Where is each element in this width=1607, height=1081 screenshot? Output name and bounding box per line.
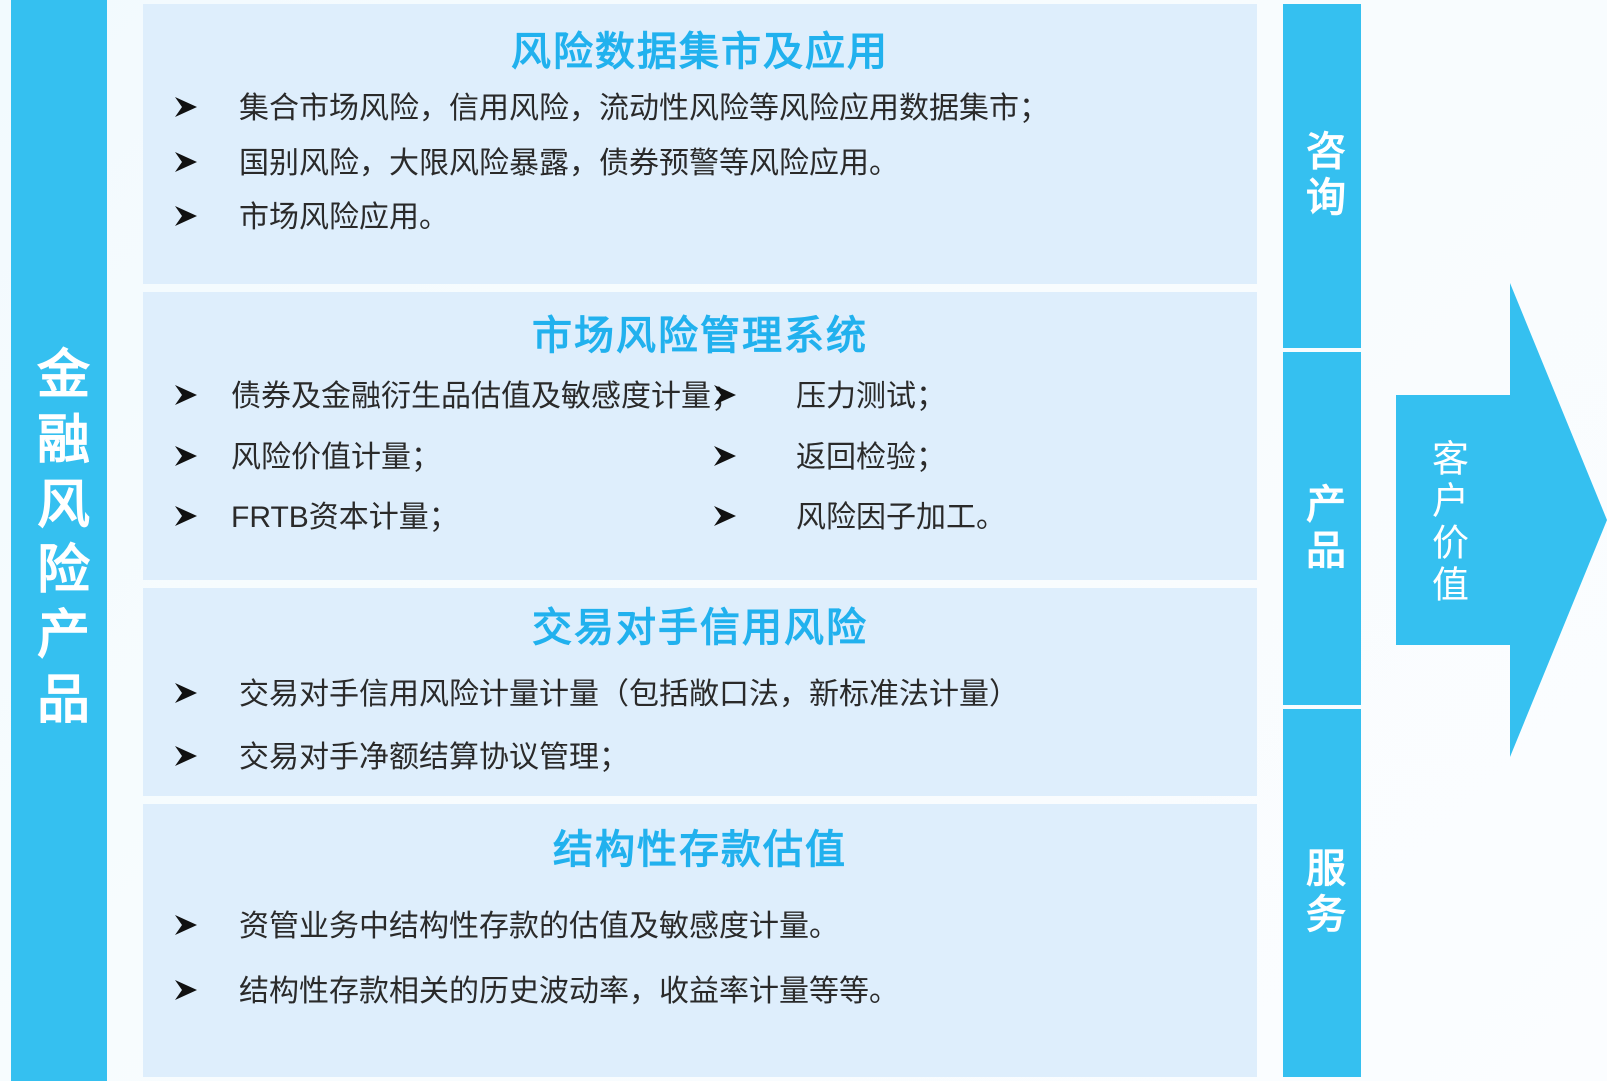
stage-block-label: 咨询 xyxy=(1302,130,1342,222)
bullet-list: 交易对手信用风险计量计量（包括敞口法，新标准法计量） 交易对手净额结算协议管理； xyxy=(143,678,1257,803)
list-item-label: 交易对手信用风险计量计量（包括敞口法，新标准法计量） xyxy=(239,678,1239,713)
arrowhead-bullet-icon xyxy=(161,741,239,767)
left-category-label: 金融风险产品 xyxy=(33,346,86,736)
arrowhead-bullet-icon xyxy=(700,380,796,406)
bullet-list: 资管业务中结构性存款的估值及敏感度计量。 结构性存款相关的历史波动率，收益率计量… xyxy=(143,910,1257,1039)
arrowhead-bullet-icon xyxy=(161,380,231,406)
panel-title: 市场风险管理系统 xyxy=(143,314,1257,358)
bullet-column-left: 资管业务中结构性存款的估值及敏感度计量。 结构性存款相关的历史波动率，收益率计量… xyxy=(161,910,1239,1039)
diagram-canvas: 金融风险产品 风险数据集市及应用 集合市场风险，信用风险，流动性风险等风险应用数… xyxy=(0,0,1607,1081)
list-item-label: 风险价值计量； xyxy=(231,441,700,476)
customer-value-arrow: 客户价值 xyxy=(1378,275,1607,765)
bullet-column-left: 交易对手信用风险计量计量（包括敞口法，新标准法计量） 交易对手净额结算协议管理； xyxy=(161,678,1239,803)
service-stage-column: 咨询 产品 服务 xyxy=(1283,4,1361,1077)
bullet-column-right: 压力测试； 返回检验； 风险因子加工。 xyxy=(700,380,1239,562)
arrowhead-bullet-icon xyxy=(700,501,796,527)
panel-counterparty-credit-risk: 交易对手信用风险 交易对手信用风险计量计量（包括敞口法，新标准法计量） xyxy=(143,588,1257,796)
arrowhead-bullet-icon xyxy=(161,501,231,527)
list-item: 返回检验； xyxy=(700,441,1239,476)
arrow-label: 客户价值 xyxy=(1429,439,1466,607)
list-item: 风险因子加工。 xyxy=(700,501,1239,536)
bullet-row: 交易对手信用风险计量计量（包括敞口法，新标准法计量） 交易对手净额结算协议管理； xyxy=(161,678,1239,803)
list-item: 压力测试； xyxy=(700,380,1239,415)
panel-title: 交易对手信用风险 xyxy=(143,606,1257,650)
bullet-column-left: 集合市场风险，信用风险，流动性风险等风险应用数据集市； 国别风险，大限风险暴露，… xyxy=(161,92,1239,256)
list-item: 交易对手信用风险计量计量（包括敞口法，新标准法计量） xyxy=(161,678,1239,713)
list-item: 资管业务中结构性存款的估值及敏感度计量。 xyxy=(161,910,1239,945)
list-item-label: 压力测试； xyxy=(796,380,1239,415)
list-item-label: 结构性存款相关的历史波动率，收益率计量等等。 xyxy=(239,975,1239,1010)
bullet-list: 集合市场风险，信用风险，流动性风险等风险应用数据集市； 国别风险，大限风险暴露，… xyxy=(143,92,1257,256)
stage-block-service: 服务 xyxy=(1283,709,1361,1077)
arrowhead-bullet-icon xyxy=(161,441,231,467)
list-item-label: 交易对手净额结算协议管理； xyxy=(239,741,1239,776)
bullet-column-left: 债券及金融衍生品估值及敏感度计量； 风险价值计量； xyxy=(161,380,700,562)
arrowhead-bullet-icon xyxy=(161,201,239,227)
arrowhead-bullet-icon xyxy=(161,147,239,173)
stage-block-product: 产品 xyxy=(1283,352,1361,705)
list-item-label: 返回检验； xyxy=(796,441,1239,476)
arrowhead-bullet-icon xyxy=(161,975,239,1001)
list-item: 集合市场风险，信用风险，流动性风险等风险应用数据集市； xyxy=(161,92,1239,127)
list-item: 风险价值计量； xyxy=(161,441,700,476)
list-item: 债券及金融衍生品估值及敏感度计量； xyxy=(161,380,700,415)
panel-stack: 风险数据集市及应用 集合市场风险，信用风险，流动性风险等风险应用数据集市； xyxy=(143,0,1257,1081)
arrowhead-bullet-icon xyxy=(700,441,796,467)
arrowhead-bullet-icon xyxy=(161,678,239,704)
list-item-label: 资管业务中结构性存款的估值及敏感度计量。 xyxy=(239,910,1239,945)
panel-market-risk-system: 市场风险管理系统 债券及金融衍生品估值及敏感度计量； xyxy=(143,292,1257,580)
bullet-list: 债券及金融衍生品估值及敏感度计量； 风险价值计量； xyxy=(143,380,1257,562)
panel-structured-deposit-valuation: 结构性存款估值 资管业务中结构性存款的估值及敏感度计量。 xyxy=(143,804,1257,1077)
list-item: 市场风险应用。 xyxy=(161,201,1239,236)
left-category-bar: 金融风险产品 xyxy=(11,0,107,1081)
list-item: 国别风险，大限风险暴露，债券预警等风险应用。 xyxy=(161,147,1239,182)
list-item: 交易对手净额结算协议管理； xyxy=(161,741,1239,776)
list-item: 结构性存款相关的历史波动率，收益率计量等等。 xyxy=(161,975,1239,1010)
list-item-label: FRTB资本计量； xyxy=(231,501,700,536)
list-item-label: 市场风险应用。 xyxy=(239,201,1239,236)
list-item-label: 风险因子加工。 xyxy=(796,501,1239,536)
list-item-label: 国别风险，大限风险暴露，债券预警等风险应用。 xyxy=(239,147,1239,182)
arrowhead-bullet-icon xyxy=(161,910,239,936)
panel-title: 风险数据集市及应用 xyxy=(143,30,1257,74)
list-item: FRTB资本计量； xyxy=(161,501,700,536)
stage-block-consulting: 咨询 xyxy=(1283,4,1361,348)
panel-risk-data-mart: 风险数据集市及应用 集合市场风险，信用风险，流动性风险等风险应用数据集市； xyxy=(143,4,1257,284)
bullet-row: 债券及金融衍生品估值及敏感度计量； 风险价值计量； xyxy=(161,380,1239,562)
list-item-label: 债券及金融衍生品估值及敏感度计量； xyxy=(231,380,741,415)
stage-block-label: 服务 xyxy=(1302,847,1342,939)
arrow-label-wrap: 客户价值 xyxy=(1412,415,1482,630)
panel-title: 结构性存款估值 xyxy=(143,828,1257,872)
bullet-row: 集合市场风险，信用风险，流动性风险等风险应用数据集市； 国别风险，大限风险暴露，… xyxy=(161,92,1239,256)
arrowhead-bullet-icon xyxy=(161,92,239,118)
bullet-row: 资管业务中结构性存款的估值及敏感度计量。 结构性存款相关的历史波动率，收益率计量… xyxy=(161,910,1239,1039)
stage-block-label: 产品 xyxy=(1302,483,1342,575)
list-item-label: 集合市场风险，信用风险，流动性风险等风险应用数据集市； xyxy=(239,92,1239,127)
